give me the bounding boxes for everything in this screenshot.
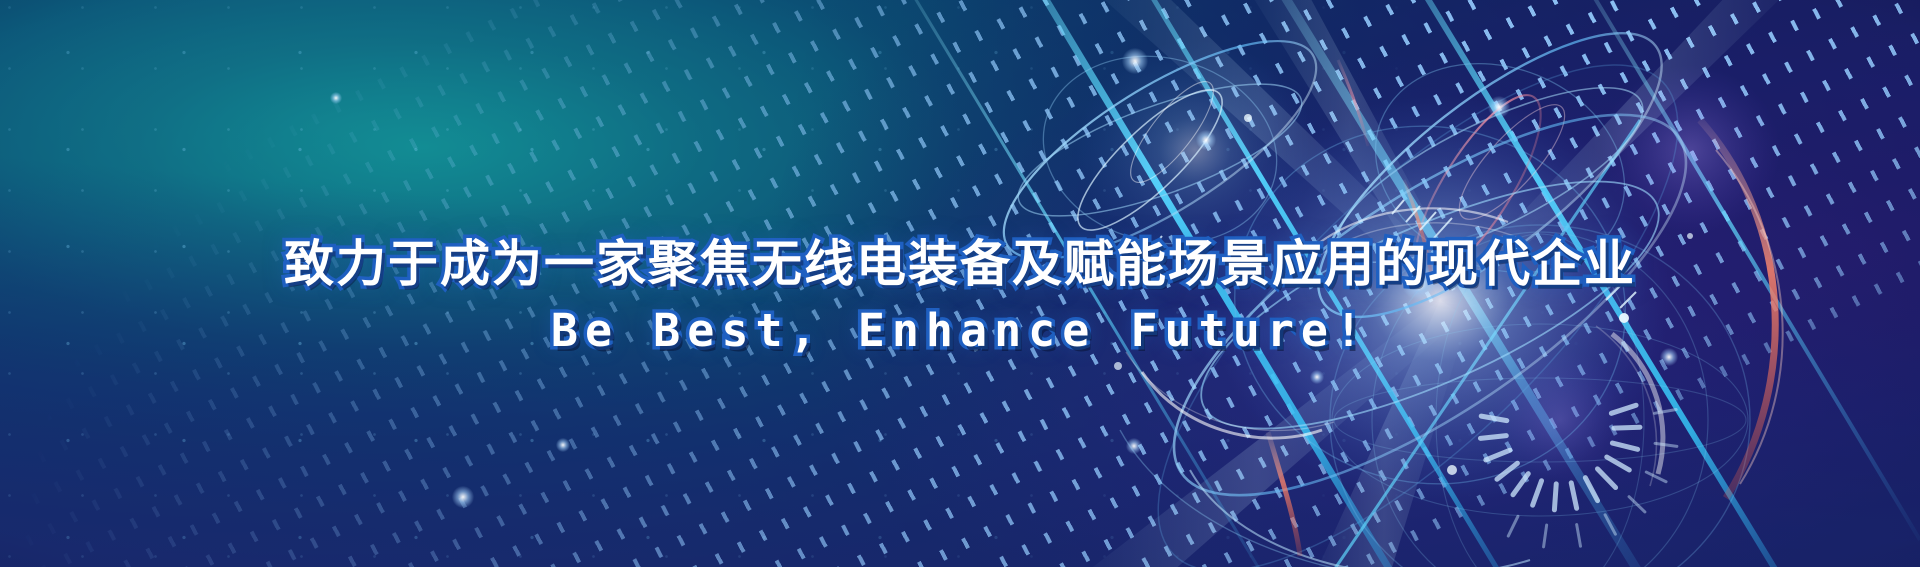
orbital-ring-group-upper [974,2,1345,298]
light-sparkle [556,438,570,452]
diagonal-dash-field-mid [0,0,1920,567]
radial-dash-rosette [1472,370,1707,567]
tech-artwork [0,0,1920,567]
data-tick-group [1150,200,1636,308]
background-base-gradient [0,0,1920,567]
diagonal-dash-field-bottom [0,0,1920,567]
diagonal-dash-field-far-right [0,0,1920,567]
orbital-ring-group-right [1279,0,1701,363]
particle-dot-field-left [0,0,1920,567]
ring-node-dot-group [1114,114,1693,475]
background-violet-glow [0,0,1920,567]
light-ray-group [1050,0,1820,567]
light-sparkle [1488,96,1510,118]
light-sparkle [1660,348,1678,366]
hero-copy-block: 致力于成为一家聚焦无线电装备及赋能场景应用的现代企业 Be Best, Enha… [0,238,1920,354]
wireframe-globe [1330,225,1750,567]
cyan-diagonal-beam-group [880,0,1920,567]
background-teal-glow [0,0,1920,567]
background-vignette [0,0,1920,567]
violet-glow-node-2 [1490,350,1630,490]
light-sparkle [1310,370,1324,384]
secondary-glow [1075,40,1315,260]
core-glow [1210,95,1670,505]
light-sparkle [1196,130,1216,150]
orbital-ring-group-core [1086,0,1750,567]
coral-accent-arc-group [1268,60,1783,556]
light-sparkle [1402,266,1436,300]
light-sparkle [452,486,474,508]
background-indigo-right [0,0,1920,567]
light-sparkle [1122,48,1148,74]
light-sparkle [330,92,342,104]
violet-glow-node [1600,65,1780,235]
headline-english: Be Best, Enhance Future! [0,307,1920,354]
hero-banner: 致力于成为一家聚焦无线电装备及赋能场景应用的现代企业 Be Best, Enha… [0,0,1920,567]
background-navy-bottom [0,0,1920,567]
headline-chinese: 致力于成为一家聚焦无线电装备及赋能场景应用的现代企业 [0,238,1920,291]
light-sparkle [1126,438,1142,454]
structural-arc-group [1126,208,1663,486]
diagonal-dash-field-right [0,0,1920,567]
